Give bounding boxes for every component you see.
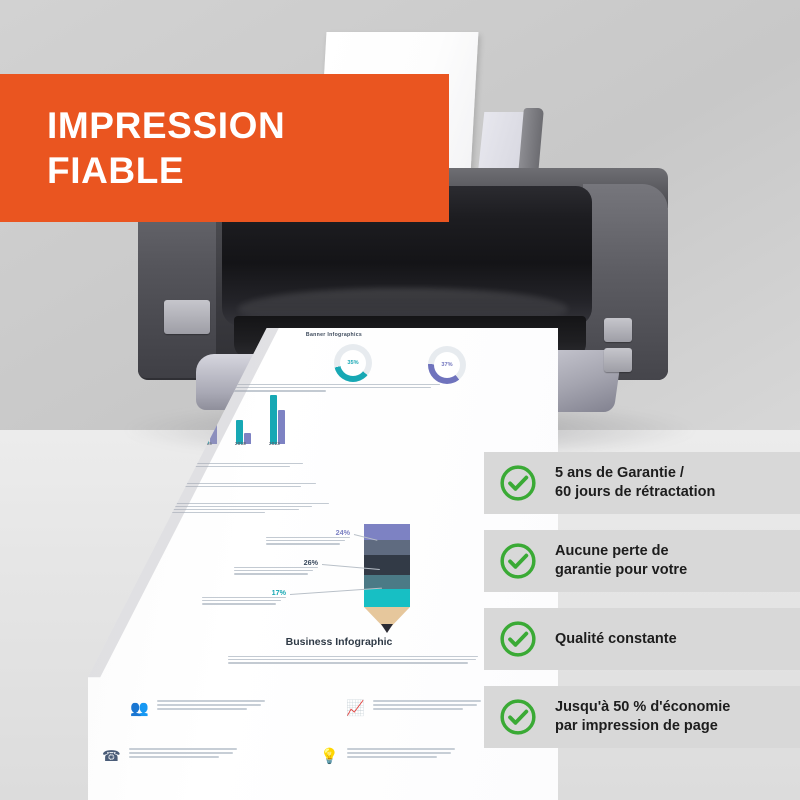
donut-chart-2: 37%: [428, 346, 466, 384]
feature-badge-3[interactable]: Qualité constante: [484, 608, 800, 670]
headline-banner: IMPRESSION FIABLE: [0, 74, 449, 222]
business-paragraph: [228, 656, 478, 665]
funnel-stat-body: [202, 597, 286, 605]
lightbulb-icon: 💡: [320, 748, 339, 766]
feature-badge-line: garantie pour votre: [555, 561, 687, 580]
donut-value-1: 35%: [340, 350, 366, 376]
printer-tray-button[interactable]: [164, 300, 210, 334]
pencil-lead-icon: [381, 624, 393, 633]
bar-x-label-2018: 2018: [235, 441, 246, 446]
funnel-stat-2: 26%: [206, 558, 318, 576]
feature-badge-line: Qualité constante: [555, 630, 677, 649]
funnel-segment-3: [364, 555, 410, 575]
funnel-stat-percent: 17%: [174, 588, 286, 597]
feature-badge-line: par impression de page: [555, 717, 730, 736]
icon-feature-text-3: [129, 748, 237, 761]
headline-line-1: IMPRESSION: [47, 103, 449, 148]
funnel-segment-4: [364, 575, 410, 589]
printer-control-button-2[interactable]: [604, 348, 632, 372]
icon-feature-text-2: [373, 700, 481, 713]
check-circle-icon: [498, 697, 538, 737]
funnel-stat-1: 24%: [238, 528, 350, 546]
donut-chart-group: 35% 37%: [248, 344, 448, 384]
growth-chart-icon: 📈: [346, 700, 365, 718]
donut-value-2: 37%: [434, 352, 460, 378]
feature-badge-list: 5 ans de Garantie /60 jours de rétractat…: [484, 452, 800, 764]
icon-feature-4: 💡: [320, 748, 455, 766]
feature-badge-text-3: Qualité constante: [555, 630, 677, 649]
funnel-segment-2: [364, 540, 410, 555]
clock-phone-icon: ☎: [102, 748, 121, 766]
icon-feature-3: ☎: [102, 748, 237, 766]
pencil-funnel-chart: [364, 524, 410, 640]
feature-badge-line: Aucune perte de: [555, 542, 687, 561]
funnel-stat-percent: 24%: [238, 528, 350, 537]
feature-badge-2[interactable]: Aucune perte degarantie pour votre: [484, 530, 800, 592]
feature-badge-4[interactable]: Jusqu'à 50 % d'économiepar impression de…: [484, 686, 800, 748]
check-circle-icon: [498, 463, 538, 503]
funnel-segment-5: [364, 589, 410, 607]
funnel-stat-3: 17%: [174, 588, 286, 606]
check-circle-icon: [498, 619, 538, 659]
people-group-icon: 👥: [130, 700, 149, 718]
donut-chart-1: 35%: [334, 344, 372, 382]
funnel-stat-percent: 26%: [206, 558, 318, 567]
feature-badge-text-2: Aucune perte degarantie pour votre: [555, 542, 687, 579]
feature-badge-1[interactable]: 5 ans de Garantie /60 jours de rétractat…: [484, 452, 800, 514]
poster-canvas: Banner Infographics 35% 37% Step 01: [0, 0, 800, 800]
icon-feature-text-4: [347, 748, 455, 761]
feature-badge-text-1: 5 ans de Garantie /60 jours de rétractat…: [555, 464, 715, 501]
bar-group-2023: [270, 395, 285, 444]
funnel-stat-body: [266, 537, 350, 545]
feature-badge-line: 60 jours de rétractation: [555, 483, 715, 502]
funnel-stat-body: [234, 567, 318, 575]
business-infographic-title: Business Infographic: [214, 636, 464, 648]
bar-x-label-2023: 2023: [269, 441, 280, 446]
feature-badge-line: Jusqu'à 50 % d'économie: [555, 698, 730, 717]
bar-step02-2023: [278, 410, 285, 444]
printer-control-button-1[interactable]: [604, 318, 632, 342]
bar-step01-2023: [270, 395, 277, 444]
icon-feature-1: 👥: [130, 700, 265, 718]
icon-feature-text-1: [157, 700, 265, 713]
icon-feature-2: 📈: [346, 700, 481, 718]
check-circle-icon: [498, 541, 538, 581]
feature-badge-text-4: Jusqu'à 50 % d'économiepar impression de…: [555, 698, 730, 735]
feature-badge-line: 5 ans de Garantie /: [555, 464, 715, 483]
headline-line-2: FIABLE: [47, 148, 449, 193]
